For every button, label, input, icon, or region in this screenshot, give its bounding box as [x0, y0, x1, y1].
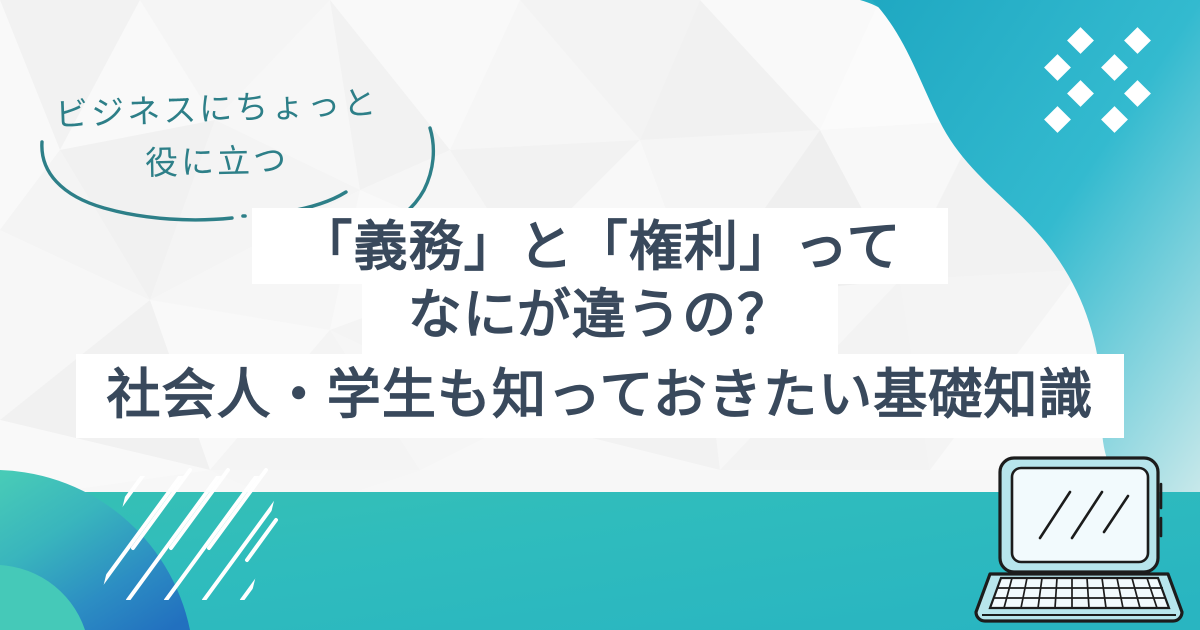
title-line-3-row: 社会人・学生も知っておきたい基礎知識 [0, 354, 1200, 438]
thumbnail-canvas: 「義務」と「権利」って なにが違うの？ 社会人・学生も知っておきたい基礎知識 ビ… [0, 0, 1200, 630]
title-line-2-row: なにが違うの？ [0, 284, 1200, 356]
catchcopy-line-2: 役に立つ [145, 133, 290, 184]
title-line-1-row: 「義務」と「権利」って [0, 208, 1200, 284]
title-line-1: 「義務」と「権利」って [252, 208, 947, 284]
title-line-2: なにが違うの？ [362, 284, 838, 356]
title-line-3: 社会人・学生も知っておきたい基礎知識 [76, 354, 1123, 438]
title-block: 「義務」と「権利」って なにが違うの？ 社会人・学生も知っておきたい基礎知識 [0, 208, 1200, 438]
